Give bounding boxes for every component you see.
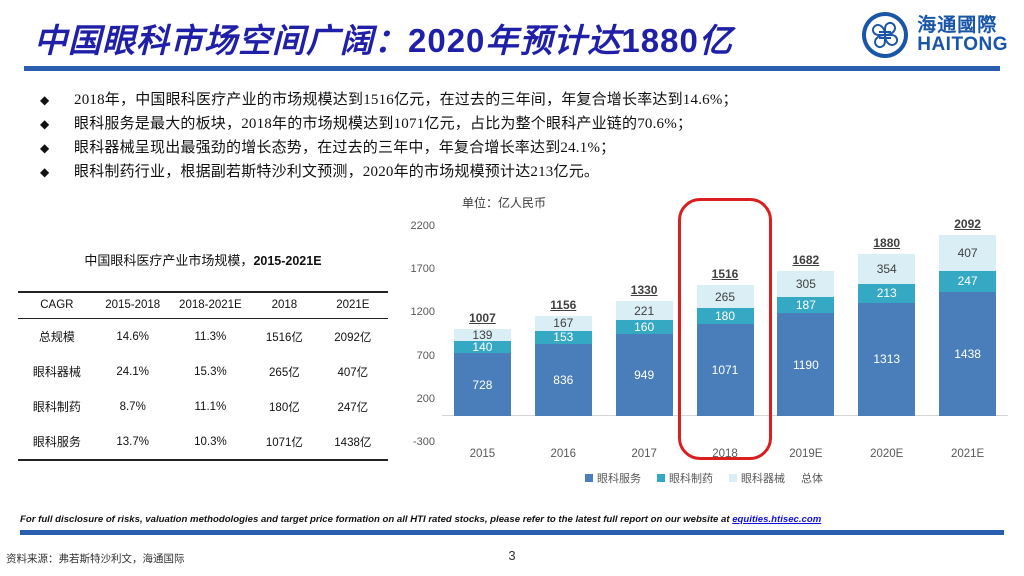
bar-total-label: 1330 bbox=[631, 283, 658, 297]
x-axis-tick: 2020E bbox=[870, 448, 903, 460]
table-row: 总规模 14.6% 11.3% 1516亿 2092亿 bbox=[18, 319, 388, 355]
bar-group: 13914072810072015 bbox=[442, 226, 523, 442]
x-axis-tick: 2019E bbox=[789, 448, 822, 460]
page-number: 3 bbox=[0, 548, 1024, 563]
diamond-bullet-icon: ◆ bbox=[34, 93, 74, 107]
legend-label: 眼科器械 bbox=[741, 470, 785, 486]
bar-segment: 160 bbox=[616, 320, 673, 334]
table-row: 眼科器械 24.1% 15.3% 265亿 407亿 bbox=[18, 354, 388, 389]
bar-segment: 187 bbox=[777, 297, 834, 313]
disclaimer-text: For full disclosure of risks, valuation … bbox=[20, 514, 1004, 525]
column-header-2015-2018: 2015-2018 bbox=[96, 292, 170, 319]
bar-total-label: 1880 bbox=[873, 236, 900, 250]
bar-segment: 407 bbox=[939, 235, 996, 270]
haitong-logo: 海通國際 HAITONG bbox=[860, 6, 1008, 64]
table-cell: 1071亿 bbox=[251, 424, 318, 460]
chart-bars: 1391407281007201516715383611562016221160… bbox=[442, 226, 1008, 442]
table-caption-range: 2015-2021E bbox=[253, 254, 321, 268]
bullet-item: ◆ 眼科服务是最大的板块，2018年的市场规模达到1071亿元，占比为整个眼科产… bbox=[34, 112, 1004, 136]
x-axis-tick: 2017 bbox=[631, 448, 657, 460]
title-segment-5: 亿 bbox=[699, 24, 733, 60]
legend-swatch-icon bbox=[585, 474, 593, 482]
chart-legend: 眼科服务眼科制药眼科器械总体 bbox=[396, 470, 1012, 486]
slide-header: 中国眼科市场空间广阔：2020年预计达1880亿 海通國際 HAIT bbox=[0, 0, 1024, 78]
bar-stack: 4072471438 bbox=[939, 235, 996, 416]
title-segment-4: 1880 bbox=[621, 22, 698, 59]
disclaimer-link[interactable]: equities.htisec.com bbox=[732, 514, 821, 525]
bar-group: 16715383611562016 bbox=[523, 226, 604, 442]
table-cell: 8.7% bbox=[96, 389, 170, 424]
table-cell: 2092亿 bbox=[318, 319, 388, 355]
disclaimer-body: For full disclosure of risks, valuation … bbox=[20, 514, 732, 525]
bar-total-label: 1007 bbox=[469, 311, 496, 325]
y-axis-tick: 1200 bbox=[411, 306, 435, 318]
diamond-bullet-icon: ◆ bbox=[34, 165, 74, 179]
x-axis-tick: 2016 bbox=[550, 448, 576, 460]
table-cell: 180亿 bbox=[251, 389, 318, 424]
table-caption-cn: 中国眼科医疗产业市场规模， bbox=[84, 253, 253, 268]
market-size-table: CAGR 2015-2018 2018-2021E 2018 2021E 总规模… bbox=[18, 291, 388, 461]
legend-swatch-icon bbox=[729, 474, 737, 482]
table-cell: 265亿 bbox=[251, 354, 318, 389]
y-axis-tick: -300 bbox=[413, 436, 435, 448]
bar-total-label: 1516 bbox=[712, 267, 739, 281]
bar-segment: 1438 bbox=[939, 292, 996, 416]
market-size-table-block: 中国眼科医疗产业市场规模，2015-2021E CAGR 2015-2018 2… bbox=[18, 250, 388, 461]
row-label: 总规模 bbox=[18, 319, 96, 355]
x-axis-tick: 2021E bbox=[951, 448, 984, 460]
bar-segment: 221 bbox=[616, 301, 673, 320]
table-caption: 中国眼科医疗产业市场规模，2015-2021E bbox=[18, 250, 388, 269]
y-axis-tick: 700 bbox=[417, 350, 435, 362]
table-cell: 11.3% bbox=[170, 319, 251, 355]
bar-segment: 1190 bbox=[777, 313, 834, 416]
bar-stack: 3542131313 bbox=[858, 254, 915, 416]
table-cell: 15.3% bbox=[170, 354, 251, 389]
slide: 中国眼科市场空间广阔：2020年预计达1880亿 海通國際 HAIT bbox=[0, 0, 1024, 576]
legend-label: 眼科服务 bbox=[597, 470, 641, 486]
legend-label: 总体 bbox=[801, 470, 823, 486]
legend-item[interactable]: 总体 bbox=[801, 470, 823, 486]
bar-segment: 728 bbox=[454, 353, 511, 416]
bar-stack: 221160949 bbox=[616, 301, 673, 416]
chart-plot-area: 220017001200700200-300 13914072810072015… bbox=[442, 226, 1008, 442]
table-cell: 247亿 bbox=[318, 389, 388, 424]
column-header-cagr: CAGR bbox=[18, 292, 96, 319]
y-axis-tick: 1700 bbox=[411, 263, 435, 275]
header-divider bbox=[24, 66, 1000, 71]
bullet-text: 眼科器械呈现出最强劲的增长态势，在过去的三年中，年复合增长率达到24.1%； bbox=[74, 136, 615, 157]
table-cell: 1516亿 bbox=[251, 319, 318, 355]
title-segment-2: 2020 bbox=[408, 22, 485, 59]
table-cell: 24.1% bbox=[96, 354, 170, 389]
bar-segment: 354 bbox=[858, 254, 915, 285]
bar-total-label: 1682 bbox=[793, 253, 820, 267]
table-row: 眼科服务 13.7% 10.3% 1071亿 1438亿 bbox=[18, 424, 388, 460]
table-cell: 13.7% bbox=[96, 424, 170, 460]
bar-segment: 153 bbox=[535, 331, 592, 344]
diamond-bullet-icon: ◆ bbox=[34, 141, 74, 155]
y-axis-tick: 200 bbox=[417, 393, 435, 405]
bar-segment: 1071 bbox=[697, 324, 754, 417]
legend-item[interactable]: 眼科服务 bbox=[585, 470, 641, 486]
bar-segment: 305 bbox=[777, 271, 834, 297]
bullet-item: ◆ 2018年，中国眼科医疗产业的市场规模达到1516亿元，在过去的三年间，年复… bbox=[34, 88, 1004, 112]
legend-swatch-icon bbox=[657, 474, 665, 482]
bullet-text: 2018年，中国眼科医疗产业的市场规模达到1516亿元，在过去的三年间，年复合增… bbox=[74, 88, 738, 109]
bar-group: 265180107115162018 bbox=[685, 226, 766, 442]
haitong-emblem-icon bbox=[860, 10, 910, 60]
bullet-text: 眼科制药行业，根据副若斯特沙利文预测，2020年的市场规模预计达213亿元。 bbox=[74, 160, 599, 181]
bar-stack: 167153836 bbox=[535, 316, 592, 416]
table-header-row: CAGR 2015-2018 2018-2021E 2018 2021E bbox=[18, 292, 388, 319]
bullet-text: 眼科服务是最大的板块，2018年的市场规模达到1071亿元，占比为整个眼科产业链… bbox=[74, 112, 692, 133]
bullet-list: ◆ 2018年，中国眼科医疗产业的市场规模达到1516亿元，在过去的三年间，年复… bbox=[34, 88, 1004, 184]
page-title: 中国眼科市场空间广阔：2020年预计达1880亿 bbox=[34, 14, 733, 62]
bar-segment: 140 bbox=[454, 341, 511, 353]
table-cell: 1438亿 bbox=[318, 424, 388, 460]
bar-segment: 180 bbox=[697, 308, 754, 324]
row-label: 眼科服务 bbox=[18, 424, 96, 460]
table-cell: 11.1% bbox=[170, 389, 251, 424]
logo-wordmark: 海通國際 HAITONG bbox=[917, 16, 1008, 54]
table-cell: 10.3% bbox=[170, 424, 251, 460]
chart-unit-label: 单位：亿人民币 bbox=[462, 194, 546, 211]
column-header-2021e: 2021E bbox=[318, 292, 388, 319]
column-header-2018: 2018 bbox=[251, 292, 318, 319]
bar-segment: 949 bbox=[616, 334, 673, 416]
bar-segment: 265 bbox=[697, 285, 754, 308]
row-label: 眼科器械 bbox=[18, 354, 96, 389]
bullet-item: ◆ 眼科器械呈现出最强劲的增长态势，在过去的三年中，年复合增长率达到24.1%； bbox=[34, 136, 1004, 160]
row-label: 眼科制药 bbox=[18, 389, 96, 424]
bar-segment: 247 bbox=[939, 271, 996, 292]
title-segment-3: 年预计达 bbox=[485, 24, 621, 60]
logo-english-name: HAITONG bbox=[917, 35, 1008, 54]
bar-group: 407247143820922021E bbox=[927, 226, 1008, 442]
stacked-bar-chart: 单位：亿人民币 220017001200700200-300 139140728… bbox=[396, 192, 1012, 492]
title-segment-1: 中国眼科市场空间广阔： bbox=[34, 24, 408, 60]
bar-group: 22116094913302017 bbox=[604, 226, 685, 442]
bar-segment: 167 bbox=[535, 316, 592, 330]
footer-divider bbox=[20, 530, 1004, 535]
column-header-2018-2021e: 2018-2021E bbox=[170, 292, 251, 319]
bar-segment: 213 bbox=[858, 284, 915, 302]
x-axis-tick: 2018 bbox=[712, 448, 738, 460]
bar-segment: 836 bbox=[535, 344, 592, 416]
bar-stack: 139140728 bbox=[454, 329, 511, 416]
logo-chinese-name: 海通國際 bbox=[917, 16, 1008, 35]
table-row: 眼科制药 8.7% 11.1% 180亿 247亿 bbox=[18, 389, 388, 424]
table-cell: 14.6% bbox=[96, 319, 170, 355]
legend-item[interactable]: 眼科制药 bbox=[657, 470, 713, 486]
bullet-item: ◆ 眼科制药行业，根据副若斯特沙利文预测，2020年的市场规模预计达213亿元。 bbox=[34, 160, 1004, 184]
bar-group: 354213131318802020E bbox=[846, 226, 927, 442]
bar-stack: 2651801071 bbox=[697, 285, 754, 416]
table-cell: 407亿 bbox=[318, 354, 388, 389]
legend-item[interactable]: 眼科器械 bbox=[729, 470, 785, 486]
y-axis-tick: 2200 bbox=[411, 220, 435, 232]
bar-group: 305187119016822019E bbox=[765, 226, 846, 442]
bar-stack: 3051871190 bbox=[777, 271, 834, 416]
legend-label: 眼科制药 bbox=[669, 470, 713, 486]
bar-total-label: 1156 bbox=[550, 298, 576, 312]
bar-total-label: 2092 bbox=[954, 217, 981, 231]
bar-segment: 1313 bbox=[858, 303, 915, 416]
diamond-bullet-icon: ◆ bbox=[34, 117, 74, 131]
x-axis-tick: 2015 bbox=[470, 448, 496, 460]
